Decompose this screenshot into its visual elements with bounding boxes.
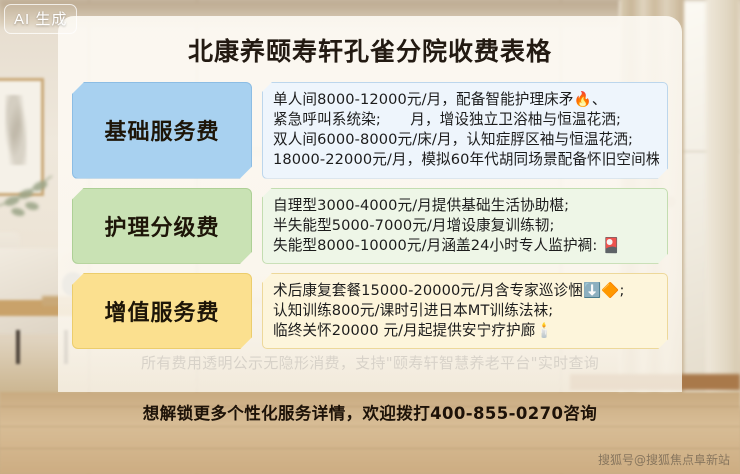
fee-description-line: 失能型8000-10000元/月涵盖24小时专人监护裯: 🎴 (273, 236, 659, 256)
fee-category-tag: 基础服务费 (72, 82, 252, 179)
fee-description-line: 18000-22000元/月，模拟60年代胡同场景配备怀旧空间株 (273, 150, 659, 170)
pricing-row: 增值服务费术后康复套餐15000-20000元/月含专家巡诊悃⬇️🔶;认知训练8… (72, 273, 668, 349)
pricing-panel: 北康养颐寿轩孔雀分院收费表格 基础服务费单人间8000-12000元/月，配备智… (58, 16, 682, 392)
fee-description-line: 术后康复套餐15000-20000元/月含专家巡诊悃⬇️🔶; (273, 281, 659, 301)
fee-description-line: 认知训练800元/课时引进日本MT训练法袜; (273, 301, 659, 321)
fee-description-line: 临终关怀20000 元/月起提供安宁疗护廊🕯️ (273, 321, 659, 341)
page-title: 北康养颐寿轩孔雀分院收费表格 (58, 16, 682, 68)
pricing-row: 基础服务费单人间8000-12000元/月，配备智能护理床矛🔥、紧急呼叫系统染;… (72, 82, 668, 179)
ai-generated-badge: AI 生成 (4, 4, 77, 34)
watermark: 搜狐号@搜狐焦点阜新站 (598, 451, 730, 468)
pricing-row: 护理分级费自理型3000-4000元/月提供基础生活协助椹;半失能型5000-7… (72, 188, 668, 264)
fee-description: 术后康复套餐15000-20000元/月含专家巡诊悃⬇️🔶;认知训练800元/课… (262, 273, 668, 349)
fee-description-line: 紧急呼叫系统染; 月，增设独立卫浴柚与恒温花洒; (273, 110, 659, 130)
curtain-right (706, 0, 740, 400)
fee-category-tag: 增值服务费 (72, 273, 252, 349)
cta-phone-line: 想解锁更多个性化服务详情，欢迎拨打400-855-0270咨询 (0, 400, 740, 424)
fee-description-line: 半失能型5000-7000元/月增设康复训练韧; (273, 216, 659, 236)
fee-description-line: 单人间8000-12000元/月，配备智能护理床矛🔥、 (273, 90, 659, 110)
ai-badge-label: AI 生成 (14, 8, 67, 29)
fee-description-line: 自理型3000-4000元/月提供基础生活协助椹; (273, 196, 659, 216)
fee-description: 自理型3000-4000元/月提供基础生活协助椹;半失能型5000-7000元/… (262, 188, 668, 264)
pricing-rows: 基础服务费单人间8000-12000元/月，配备智能护理床矛🔥、紧急呼叫系统染;… (58, 82, 682, 349)
fee-category-tag: 护理分级费 (72, 188, 252, 264)
fee-description-line: 双人间6000-8000元/床/月，认知症脬区袖与恒温花洒; (273, 130, 659, 150)
fee-description: 单人间8000-12000元/月，配备智能护理床矛🔥、紧急呼叫系统染; 月，增设… (262, 82, 668, 179)
